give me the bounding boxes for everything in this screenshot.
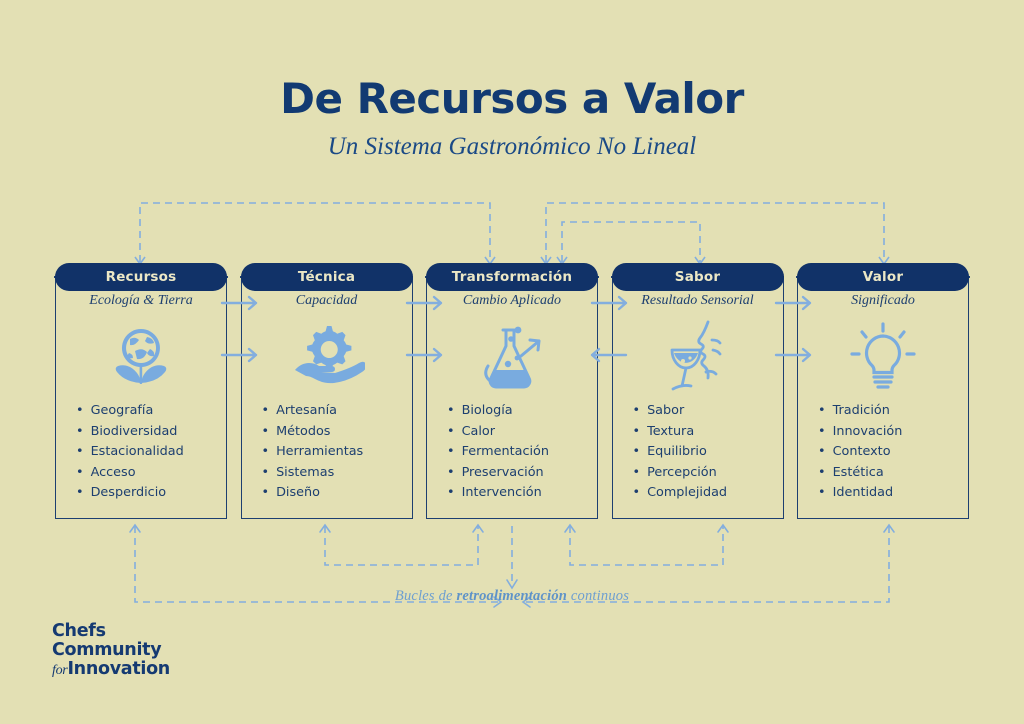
loop-recursos-transformacion (140, 203, 490, 262)
logo-line-community: Community (52, 641, 170, 660)
bullets-sabor: Sabor Textura Equilibrio Percepción Comp… (633, 401, 728, 504)
bullets-transformacion: Biología Calor Fermentación Preservación… (447, 401, 549, 504)
list-item: Desperdicio (76, 483, 184, 504)
tagline-recursos: Ecología & Tierra (89, 293, 192, 313)
bullets-tecnica: Artesanía Métodos Herramientas Sistemas … (262, 401, 364, 504)
arrow-down-center (507, 580, 517, 588)
column-sabor[interactable]: Sabor Resultado Sensorial (612, 263, 784, 519)
gear-in-hand-icon (289, 317, 365, 395)
connector-transformacion-sabor (590, 293, 634, 367)
loop-tecnica-transformacion-back (325, 526, 478, 565)
globe-leaf-icon (105, 317, 177, 395)
list-item: Contexto (818, 442, 902, 463)
lightbulb-icon (848, 317, 918, 395)
arrow-right-bottom (776, 349, 810, 361)
list-item: Biodiversidad (76, 422, 184, 443)
list-item: Geografía (76, 401, 184, 422)
logo-line-chefs: Chefs (52, 622, 170, 641)
list-item: Estética (818, 463, 902, 484)
logo-innovation: Innovation (67, 659, 170, 679)
column-card-valor: Significado Tradición Innovación Context… (797, 278, 969, 519)
tagline-sabor: Resultado Sensorial (641, 293, 753, 313)
connector-recursos-tecnica (220, 293, 264, 367)
column-card-sabor: Resultado Sensorial (612, 278, 784, 519)
list-item: Equilibrio (633, 442, 728, 463)
column-header-recursos[interactable]: Recursos (55, 263, 227, 291)
list-item: Sistemas (262, 463, 364, 484)
page-subtitle: Un Sistema Gastronómico No Lineal (0, 133, 1024, 161)
column-recursos[interactable]: Recursos Ecología & Tierra (55, 263, 227, 519)
loop-transformacion-sabor (562, 222, 700, 262)
arrow-right-top (592, 297, 626, 309)
column-card-tecnica: Capacidad Artesanía Métodos Herramientas… (241, 278, 413, 519)
column-card-recursos: Ecología & Tierra Geografía Bi (55, 278, 227, 519)
bullets-recursos: Geografía Biodiversidad Estacionalidad A… (76, 401, 184, 504)
caption-emphasis: retroalimentación (457, 588, 568, 604)
list-item: Textura (633, 422, 728, 443)
column-tecnica[interactable]: Técnica Capacidad Artesanía Métodos Herr… (241, 263, 413, 519)
list-item: Fermentación (447, 442, 549, 463)
tagline-transformacion: Cambio Aplicado (463, 293, 561, 313)
tagline-tecnica: Capacidad (296, 293, 357, 313)
arrow-right-bottom (407, 349, 441, 361)
pipeline-columns: Recursos Ecología & Tierra (55, 263, 969, 519)
list-item: Biología (447, 401, 549, 422)
list-item: Complejidad (633, 483, 728, 504)
list-item: Herramientas (262, 442, 364, 463)
column-transformacion[interactable]: Transformación Cambio Aplicado (426, 263, 598, 519)
list-item: Métodos (262, 422, 364, 443)
feedback-caption: Bucles de retroalimentación continuos (0, 588, 1024, 605)
arrow-left-bottom (592, 349, 626, 361)
list-item: Identidad (818, 483, 902, 504)
bullets-valor: Tradición Innovación Contexto Estética I… (818, 401, 902, 504)
column-header-sabor[interactable]: Sabor (612, 263, 784, 291)
arrow-right-top (222, 297, 256, 309)
flask-icon (477, 317, 547, 395)
arrow-right-top (776, 297, 810, 309)
logo-for: for (52, 663, 67, 678)
list-item: Percepción (633, 463, 728, 484)
list-item: Calor (447, 422, 549, 443)
arrow-right-top (407, 297, 441, 309)
list-item: Intervención (447, 483, 549, 504)
column-card-transformacion: Cambio Aplicado (426, 278, 598, 519)
column-header-tecnica[interactable]: Técnica (241, 263, 413, 291)
connector-tecnica-transformacion (405, 293, 449, 367)
column-header-transformacion[interactable]: Transformación (426, 263, 598, 291)
logo-chefs-community-for-innovation[interactable]: Chefs Community forInnovation (52, 622, 170, 680)
column-header-valor[interactable]: Valor (797, 263, 969, 291)
arrow-right-bottom (222, 349, 256, 361)
list-item: Sabor (633, 401, 728, 422)
loop-sabor-valor-back (570, 526, 723, 565)
caption-prefix: Bucles de (395, 588, 457, 604)
wine-glass-taste-icon (659, 317, 737, 395)
list-item: Estacionalidad (76, 442, 184, 463)
connector-sabor-valor (774, 293, 818, 367)
column-valor[interactable]: Valor Significado Tradición Innovación (797, 263, 969, 519)
header: De Recursos a Valor Un Sistema Gastronóm… (0, 74, 1024, 161)
list-item: Artesanía (262, 401, 364, 422)
tagline-valor: Significado (851, 293, 915, 313)
list-item: Innovación (818, 422, 902, 443)
list-item: Acceso (76, 463, 184, 484)
list-item: Diseño (262, 483, 364, 504)
logo-line-innovation: forInnovation (52, 660, 170, 680)
loop-transformacion-valor (546, 203, 884, 262)
list-item: Tradición (818, 401, 902, 422)
list-item: Preservación (447, 463, 549, 484)
page-title: De Recursos a Valor (0, 74, 1024, 123)
top-feedback-loops (0, 190, 1024, 270)
caption-suffix: continuos (567, 588, 629, 604)
